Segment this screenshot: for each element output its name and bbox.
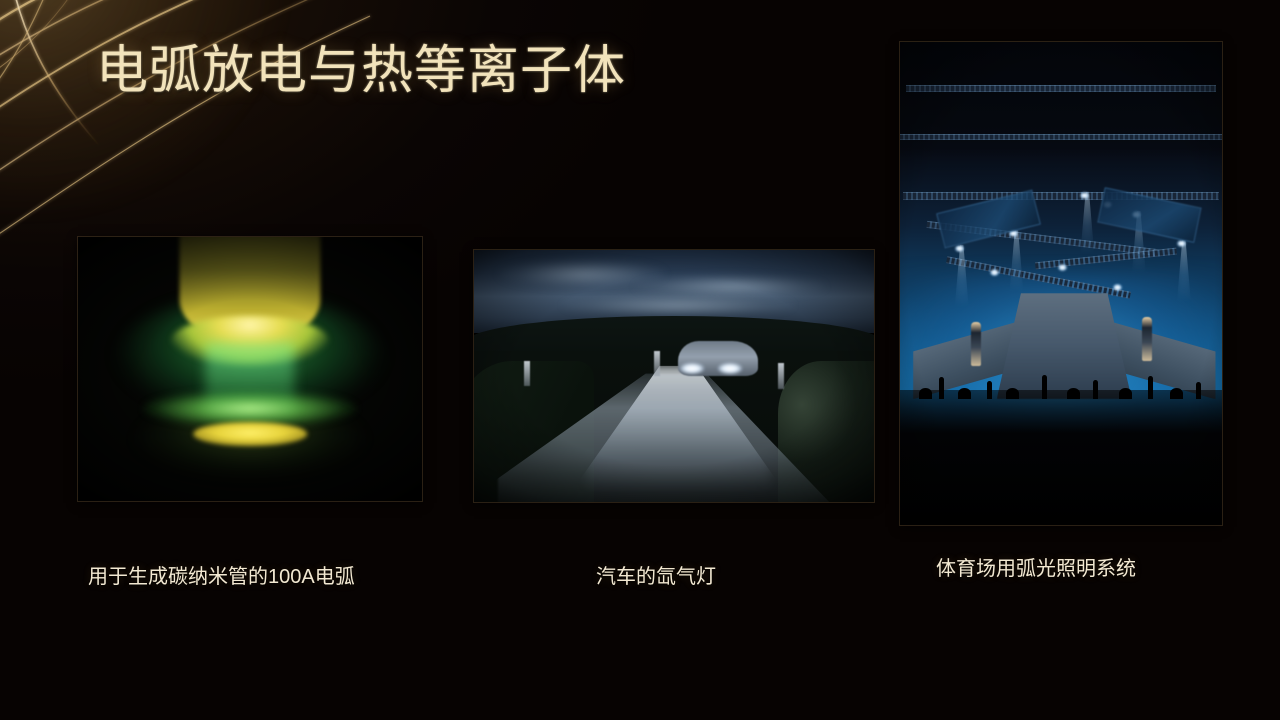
- stage-image-vignette: [900, 42, 1222, 525]
- figure-xenon-headlight-image: [474, 250, 874, 502]
- figure-arc-discharge-image: [78, 237, 422, 501]
- figure-caption-arc-discharge: 用于生成碳纳米管的100A电弧: [88, 560, 355, 589]
- arc-image-vignette: [78, 237, 422, 501]
- figure-stage-lighting-image: [900, 42, 1222, 525]
- figure-caption-stage-lighting: 体育场用弧光照明系统: [936, 552, 1136, 581]
- xenon-image-vignette: [474, 250, 874, 502]
- presentation-slide: 电弧放电与热等离子体: [0, 0, 1280, 720]
- figure-caption-xenon-headlight: 汽车的氙气灯: [596, 560, 716, 589]
- page-title: 电弧放电与热等离子体: [96, 42, 626, 102]
